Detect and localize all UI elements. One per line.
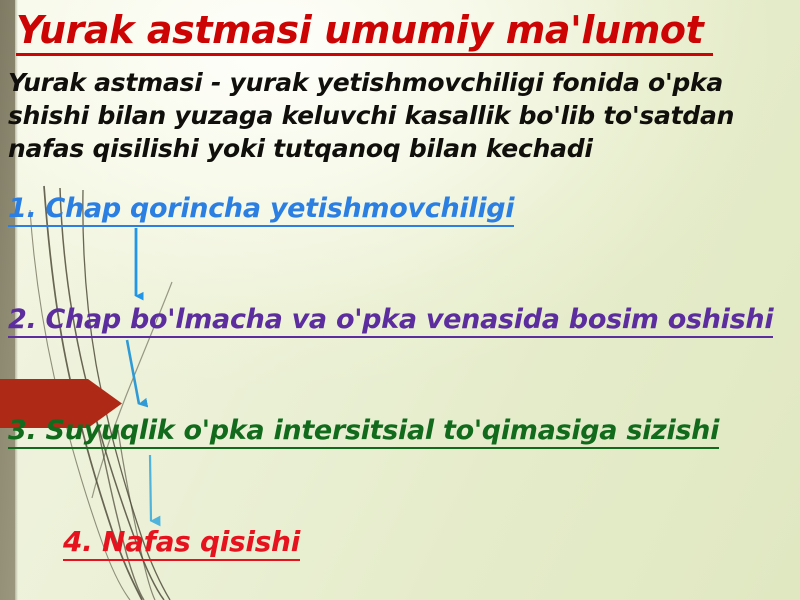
step-item-1: 1. Chap qorincha yetishmovchiligi [8, 194, 514, 227]
lead-paragraph: Yurak astmasi - yurak yetishmovchiligi f… [8, 66, 798, 165]
slide-canvas: Yurak astmasi umumiy ma'lumot Yurak astm… [0, 0, 800, 600]
step-item-4-label: 4. Nafas qisishi [63, 527, 300, 561]
step-item-1-label: 1. Chap qorincha yetishmovchiligi [8, 194, 514, 227]
step-item-4: 4. Nafas qisishi [63, 527, 300, 561]
slide-content: Yurak astmasi umumiy ma'lumot Yurak astm… [0, 0, 800, 600]
page-title-text: Yurak astmasi umumiy ma'lumot [16, 11, 713, 56]
lead-line-1: Yurak astmasi - yurak yetishmovchiligi f… [8, 66, 798, 99]
lead-line-2: shishi bilan yuzaga keluvchi kasallik bo… [8, 99, 798, 132]
step-item-3: 3. Suyuqlik o'pka intersitsial to'qimasi… [8, 416, 719, 449]
step-item-2: 2. Chap bo'lmacha va o'pka venasida bosi… [8, 305, 773, 338]
lead-line-3: nafas qisilishi yoki tutqanoq bilan kech… [8, 132, 798, 165]
step-item-2-label: 2. Chap bo'lmacha va o'pka venasida bosi… [8, 305, 773, 338]
page-title: Yurak astmasi umumiy ma'lumot [16, 8, 786, 56]
step-item-3-label: 3. Suyuqlik o'pka intersitsial to'qimasi… [8, 416, 719, 449]
